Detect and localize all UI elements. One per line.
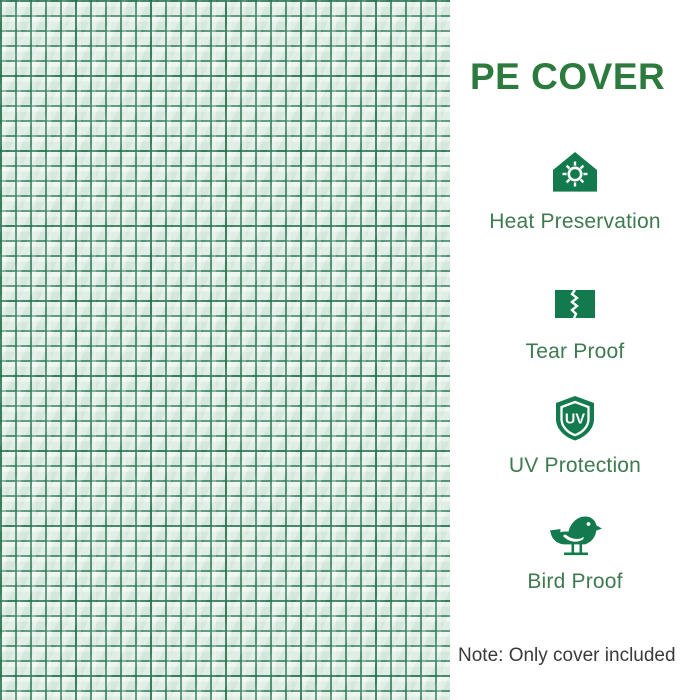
svg-text:UV: UV [565,412,585,428]
feature-label: Tear Proof [450,340,700,364]
page-title: PE COVER [470,56,700,98]
feature-item-heat-preservation: Heat Preservation [450,148,700,234]
feature-item-uv-protection: UV UV Protection [450,392,700,478]
feature-label: Heat Preservation [450,210,700,234]
feature-item-tear-proof: Tear Proof [450,278,700,364]
bird-icon [450,508,700,560]
note-text: Note: Only cover included [458,645,700,667]
feature-item-bird-proof: Bird Proof [450,508,700,594]
uv-shield-icon: UV [450,392,700,444]
feature-panel: PE COVER [450,0,700,700]
torn-fabric-icon [450,278,700,330]
feature-label: UV Protection [450,454,700,478]
product-feature-graphic: PE COVER [0,0,700,700]
greenhouse-sun-icon [450,148,700,200]
pe-mesh-fabric-image [0,0,450,700]
feature-label: Bird Proof [450,570,700,594]
